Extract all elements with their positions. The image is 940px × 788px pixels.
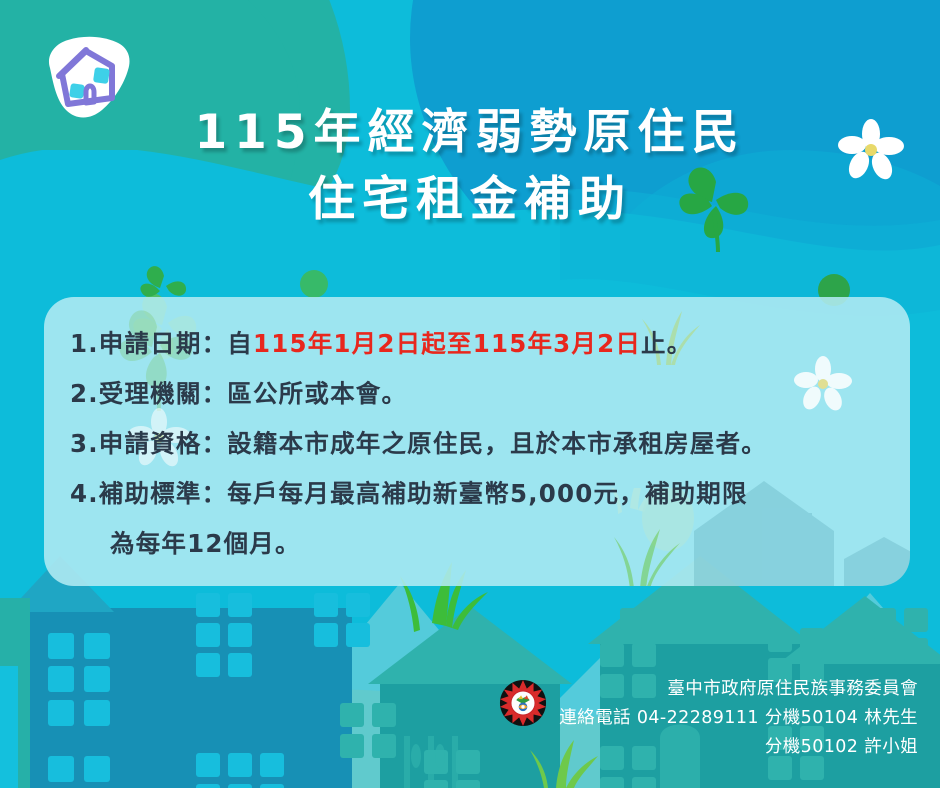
item-text-pre: 區公所或本會。 — [227, 379, 407, 408]
item-label: 申請日期： — [99, 329, 228, 358]
item-text-pre: 每戶每月最高補助新臺幣5,000元，補助期限 — [227, 479, 747, 508]
item-text-pre: 設籍本市成年之原住民，且於本市承租房屋者。 — [227, 429, 767, 458]
list-item: 1.申請日期：自115年1月2日起至115年3月2日止。 — [70, 319, 884, 369]
item-number: 4. — [70, 479, 99, 508]
poster-title: 115年經濟弱勢原住民 住宅租金補助 — [0, 100, 940, 233]
poster-canvas: 115年經濟弱勢原住民 住宅租金補助 — [0, 0, 940, 788]
list-item: 3.申請資格：設籍本市成年之原住民，且於本市承租房屋者。 — [70, 419, 884, 469]
item-label: 補助標準： — [99, 479, 228, 508]
item-label: 受理機關： — [99, 379, 228, 408]
footer-contact: 臺中市政府原住民族事務委員會 連絡電話 04-22289111 分機50104 … — [499, 675, 918, 762]
footer-contact-line-2: 分機50102 許小姐 — [559, 733, 918, 762]
item-label: 申請資格： — [99, 429, 228, 458]
flower-icon — [836, 118, 906, 184]
item-text-pre: 自 — [227, 329, 253, 358]
footer-contact-line-1: 連絡電話 04-22289111 分機50104 林先生 — [559, 704, 918, 733]
footer-agency-name: 臺中市政府原住民族事務委員會 — [559, 675, 918, 704]
list-item: 2.受理機關：區公所或本會。 — [70, 369, 884, 419]
list-item-continuation: 為每年12個月。 — [70, 519, 884, 569]
list-item: 4.補助標準：每戶每月最高補助新臺幣5,000元，補助期限 — [70, 469, 884, 519]
title-line-2: 住宅租金補助 — [0, 167, 940, 234]
info-list: 1.申請日期：自115年1月2日起至115年3月2日止。 2.受理機關：區公所或… — [44, 297, 910, 569]
footer-text-block: 臺中市政府原住民族事務委員會 連絡電話 04-22289111 分機50104 … — [559, 675, 918, 762]
item-number: 3. — [70, 429, 99, 458]
item-number: 2. — [70, 379, 99, 408]
info-card: 1.申請日期：自115年1月2日起至115年3月2日止。 2.受理機關：區公所或… — [44, 297, 910, 586]
title-line-1: 115年經濟弱勢原住民 — [0, 100, 940, 167]
item-highlight-dates: 115年1月2日起至115年3月2日 — [253, 329, 641, 358]
indigenous-affairs-emblem-icon — [499, 679, 547, 727]
item-number: 1. — [70, 329, 99, 358]
item-text-post: 止。 — [641, 329, 692, 358]
